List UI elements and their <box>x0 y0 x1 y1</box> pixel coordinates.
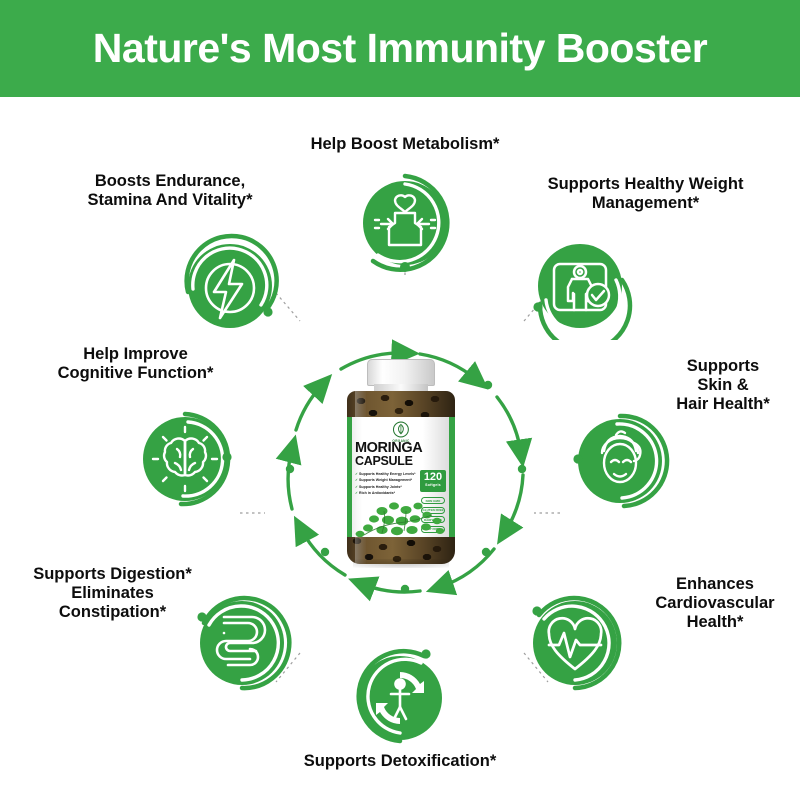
benefit-node-detox[interactable] <box>346 642 454 750</box>
bottle-label: ORGANIC MORINGA CAPSULE ✓ Supports Healt… <box>347 417 455 537</box>
benefit-node-metabolism[interactable] <box>351 167 459 275</box>
softgel-count-badge: 120 Softgels <box>420 470 446 492</box>
header-banner: Nature's Most Immunity Booster <box>0 0 800 97</box>
lightning-bolt-icon <box>176 232 284 340</box>
claim-text: Supports Healthy Joints* <box>359 485 402 489</box>
softgel-count: 120 <box>420 472 446 483</box>
check-icon: ✓ <box>355 472 358 476</box>
benefit-node-cognitive[interactable] <box>131 405 239 513</box>
check-icon: ✓ <box>355 478 358 482</box>
metabolism-torso-icon <box>351 167 459 275</box>
benefit-label-endurance: Boosts Endurance, Stamina And Vitality* <box>40 172 300 210</box>
benefit-label-metabolism: Help Boost Metabolism* <box>280 135 530 154</box>
benefit-label-weight: Supports Healthy Weight Management* <box>508 175 783 213</box>
bottle-shadow <box>353 559 449 568</box>
claim-text: Supports Healthy Energy Levels* <box>359 472 416 476</box>
product-claim: ✓ Supports Weight Management* <box>355 477 417 483</box>
benefit-label-digestion: Supports Digestion* Eliminates Constipat… <box>0 565 225 621</box>
benefit-label-cognitive: Help Improve Cognitive Function* <box>13 345 258 383</box>
product-name-line2: CAPSULE <box>355 455 449 468</box>
page-title: Nature's Most Immunity Booster <box>93 25 707 72</box>
softgel-unit: Softgels <box>420 483 446 488</box>
moringa-leaf-art <box>352 491 450 537</box>
infographic-page: Nature's Most Immunity Booster <box>0 0 800 800</box>
benefits-diagram: Help Boost Metabolism* Boosts Endurance,… <box>0 97 800 800</box>
brain-icon <box>131 405 239 513</box>
benefit-label-cardio: Enhances Cardiovascular Health* <box>630 575 800 631</box>
leaf-logo-icon <box>392 421 409 438</box>
bottle-body: ORGANIC MORINGA CAPSULE ✓ Supports Healt… <box>347 391 455 564</box>
benefit-node-weight[interactable] <box>526 232 634 340</box>
heart-pulse-icon <box>521 589 629 697</box>
product-bottle[interactable]: ORGANIC MORINGA CAPSULE ✓ Supports Healt… <box>341 359 461 564</box>
face-towel-icon <box>566 407 674 515</box>
claim-text: Supports Weight Management* <box>359 478 412 482</box>
benefit-node-endurance[interactable] <box>176 232 284 340</box>
check-icon: ✓ <box>355 485 358 489</box>
detox-recycle-person-icon <box>346 642 454 750</box>
bottle-cap <box>367 359 435 386</box>
benefit-node-skin[interactable] <box>566 407 674 515</box>
benefit-label-skin: Supports Skin & Hair Health* <box>648 357 798 413</box>
benefit-node-cardio[interactable] <box>521 589 629 697</box>
benefit-label-detox: Supports Detoxification* <box>265 752 535 771</box>
weight-scale-check-icon <box>526 232 634 340</box>
